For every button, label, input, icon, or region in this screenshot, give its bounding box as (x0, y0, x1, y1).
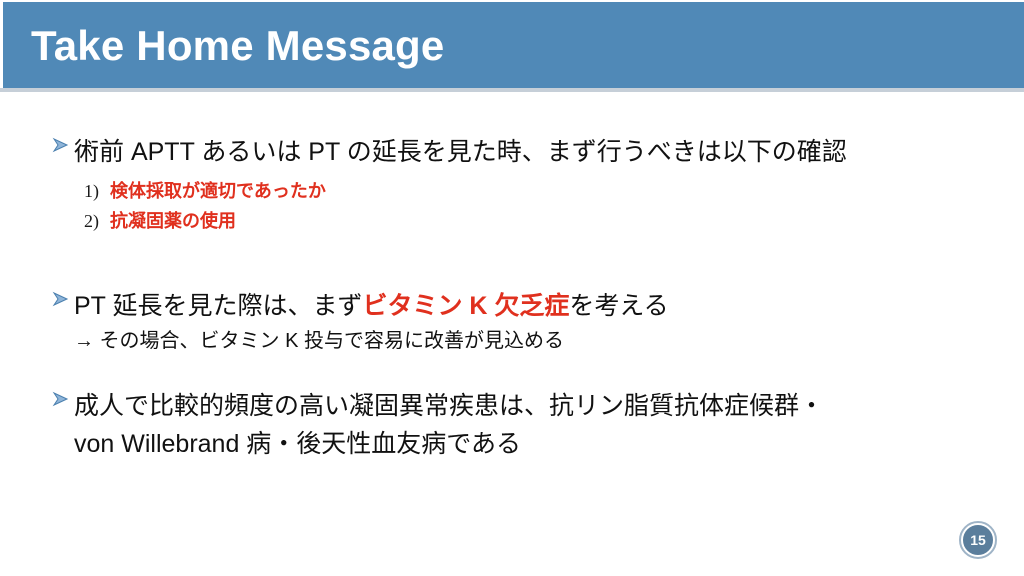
bullet-2-highlight: ビタミン K 欠乏症 (362, 292, 569, 320)
numbered-item: 1) 検体採取が適切であったか (84, 176, 847, 206)
bullet-item-3: 成人で比較的頻度の高い凝固異常疾患は、抗リン脂質抗体症候群・ (52, 388, 824, 424)
bullet-item-1: 術前 APTT あるいは PT の延長を見た時、まず行うべきは以下の確認 (52, 134, 847, 170)
page-title: Take Home Message (31, 16, 444, 76)
page-number-badge: 15 (959, 521, 997, 559)
bullet-3-continuation: von Willebrand 病・後天性血友病である (52, 424, 824, 464)
arrowhead-bullet-icon (52, 136, 74, 154)
numbered-item-text: 検体採取が適切であったか (110, 176, 326, 206)
page-number: 15 (959, 521, 997, 559)
arrowhead-bullet-icon (52, 290, 74, 308)
slide-body: 術前 APTT あるいは PT の延長を見た時、まず行うべきは以下の確認 1) … (0, 92, 1024, 576)
numbered-item: 2) 抗凝固薬の使用 (84, 206, 847, 236)
numbered-item-number: 2) (84, 206, 110, 236)
numbered-item-text: 抗凝固薬の使用 (110, 206, 236, 236)
numbered-list-1: 1) 検体採取が適切であったか 2) 抗凝固薬の使用 (52, 176, 847, 236)
bullet-text-1: 術前 APTT あるいは PT の延長を見た時、まず行うべきは以下の確認 (74, 134, 847, 170)
slide: Take Home Message 術前 APTT あるいは PT の延長を見た… (0, 0, 1024, 576)
bullet-2-suffix: を考える (569, 292, 668, 320)
bullet-block-2: PT 延長を見た際は、まずビタミン K 欠乏症を考える → その場合、ビタミン … (52, 288, 669, 358)
bullet-text-2: PT 延長を見た際は、まずビタミン K 欠乏症を考える (74, 288, 669, 324)
bullet-block-1: 術前 APTT あるいは PT の延長を見た時、まず行うべきは以下の確認 1) … (52, 134, 847, 236)
bullet-text-3: 成人で比較的頻度の高い凝固異常疾患は、抗リン脂質抗体症候群・ (74, 388, 824, 424)
arrowhead-bullet-icon (52, 390, 74, 408)
bullet-2-prefix: PT 延長を見た際は、まず (74, 292, 362, 320)
bullet-block-3: 成人で比較的頻度の高い凝固異常疾患は、抗リン脂質抗体症候群・ von Wille… (52, 388, 824, 464)
slide-title-bar: Take Home Message (0, 0, 1024, 88)
bullet-item-2: PT 延長を見た際は、まずビタミン K 欠乏症を考える (52, 288, 669, 324)
bullet-2-sub-note: → その場合、ビタミン K 投与で容易に改善が見込める (52, 324, 669, 358)
numbered-item-number: 1) (84, 176, 110, 206)
